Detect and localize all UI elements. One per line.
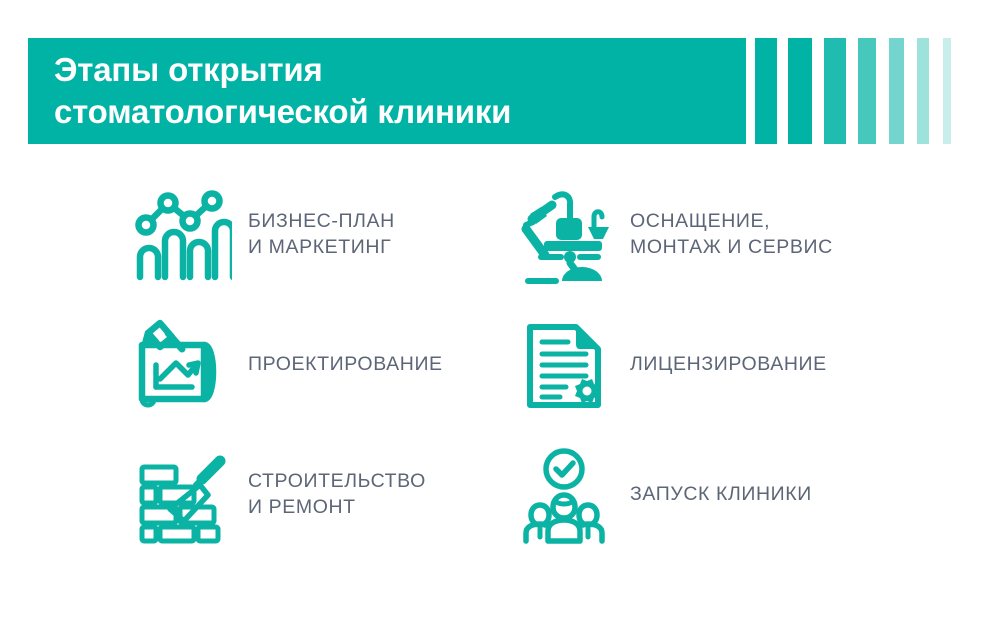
header: Этапы открытия стоматологической клиники <box>0 0 1000 160</box>
dental-chair-icon <box>512 183 616 287</box>
infographic-page: Этапы открытия стоматологической клиники <box>0 0 1000 617</box>
step-label-construction: СТРОИТЕЛЬСТВО И РЕМОНТ <box>248 469 426 520</box>
step-design[interactable]: ПРОЕКТИРОВАНИЕ <box>130 300 510 430</box>
bar-chart-growth-icon <box>130 183 234 287</box>
certificate-document-icon <box>512 313 616 417</box>
team-check-icon <box>512 443 616 547</box>
step-business-plan[interactable]: БИЗНЕС-ПЛАН И МАРКЕТИНГ <box>130 170 510 300</box>
step-construction[interactable]: СТРОИТЕЛЬСТВО И РЕМОНТ <box>130 430 510 560</box>
header-decorative-bars <box>755 38 995 144</box>
step-launch[interactable]: ЗАПУСК КЛИНИКИ <box>512 430 942 560</box>
header-bar-5 <box>889 38 904 144</box>
header-bar-7 <box>943 38 951 144</box>
header-bar-1 <box>755 38 777 144</box>
step-licensing[interactable]: ЛИЦЕНЗИРОВАНИЕ <box>512 300 942 430</box>
step-label-design: ПРОЕКТИРОВАНИЕ <box>248 352 443 378</box>
step-label-business-plan: БИЗНЕС-ПЛАН И МАРКЕТИНГ <box>248 209 395 260</box>
page-title: Этапы открытия стоматологической клиники <box>28 49 511 133</box>
header-bar-2 <box>788 38 812 144</box>
brick-wall-trowel-icon <box>130 443 234 547</box>
header-bar-3 <box>824 38 846 144</box>
step-equipment[interactable]: ОСНАЩЕНИЕ, МОНТАЖ И СЕРВИС <box>512 170 942 300</box>
blueprint-pencil-icon <box>130 313 234 417</box>
steps-grid: БИЗНЕС-ПЛАН И МАРКЕТИНГ <box>0 160 1000 580</box>
header-banner: Этапы открытия стоматологической клиники <box>28 38 746 144</box>
step-label-launch: ЗАПУСК КЛИНИКИ <box>630 482 812 508</box>
header-bar-4 <box>858 38 876 144</box>
step-label-licensing: ЛИЦЕНЗИРОВАНИЕ <box>630 352 827 378</box>
step-label-equipment: ОСНАЩЕНИЕ, МОНТАЖ И СЕРВИС <box>630 209 833 260</box>
header-bar-6 <box>917 38 929 144</box>
